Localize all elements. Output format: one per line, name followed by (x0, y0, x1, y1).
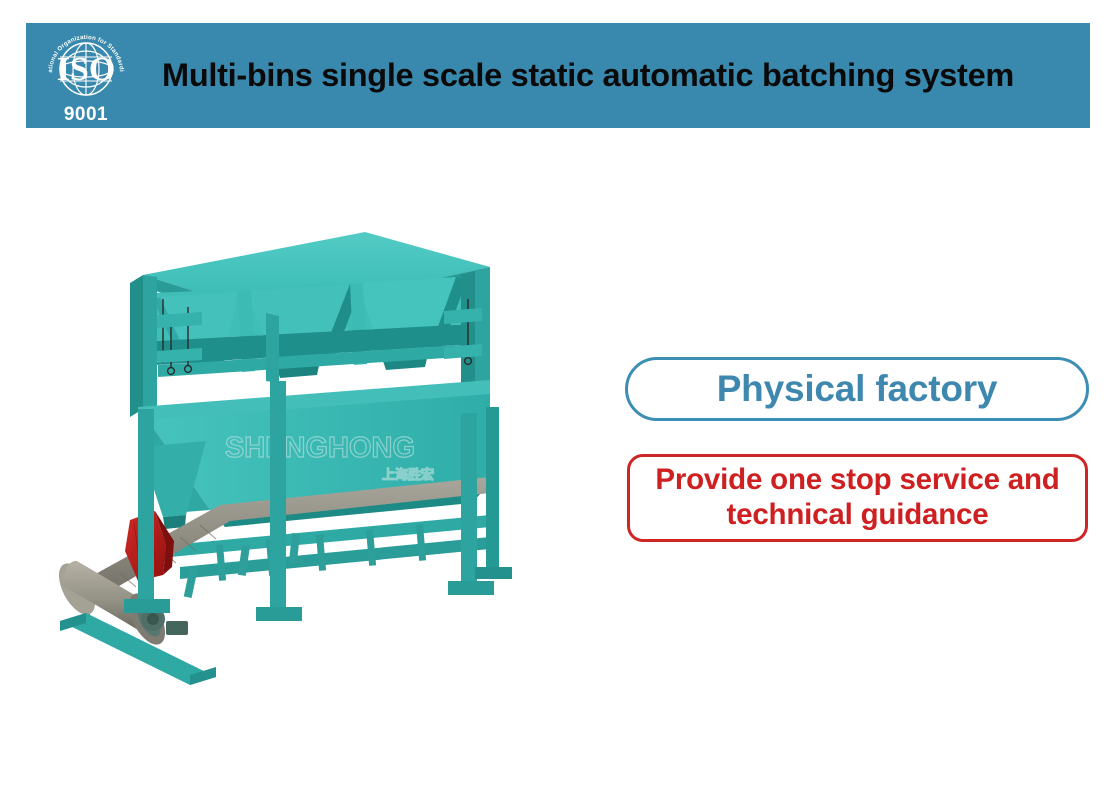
iso-standard-number: 9001 (64, 105, 108, 124)
column-mid-lower (270, 381, 286, 607)
column-right-lower (461, 413, 477, 581)
iso-globe-icon: ISO International Organization for Stand… (40, 27, 132, 107)
iso-wordmark: ISO (57, 51, 116, 88)
column-mid (266, 313, 279, 383)
watermark-shenghong: SHENGHONG (225, 432, 415, 464)
one-stop-service-callout: Provide one stop service and technical g… (627, 454, 1088, 542)
column-left-lower (138, 409, 154, 599)
column-left-front (143, 275, 157, 411)
physical-factory-callout: Physical factory (625, 357, 1089, 421)
one-stop-service-line2: technical guidance (727, 498, 989, 531)
column-right-rear-lower (486, 407, 499, 567)
watermark-subtitle: 上海胜宏 (382, 467, 434, 482)
header-band: ISO International Organization for Stand… (26, 23, 1090, 128)
one-stop-service-label: Provide one stop service and technical g… (655, 463, 1059, 533)
one-stop-service-line1: Provide one stop service and (655, 463, 1059, 496)
iso-9001-logo: ISO International Organization for Stand… (26, 23, 146, 128)
product-photo: SHENGHONG 上海胜宏 (20, 215, 640, 685)
physical-factory-label: Physical factory (717, 368, 998, 410)
page-title: Multi-bins single scale static automatic… (146, 57, 1090, 94)
